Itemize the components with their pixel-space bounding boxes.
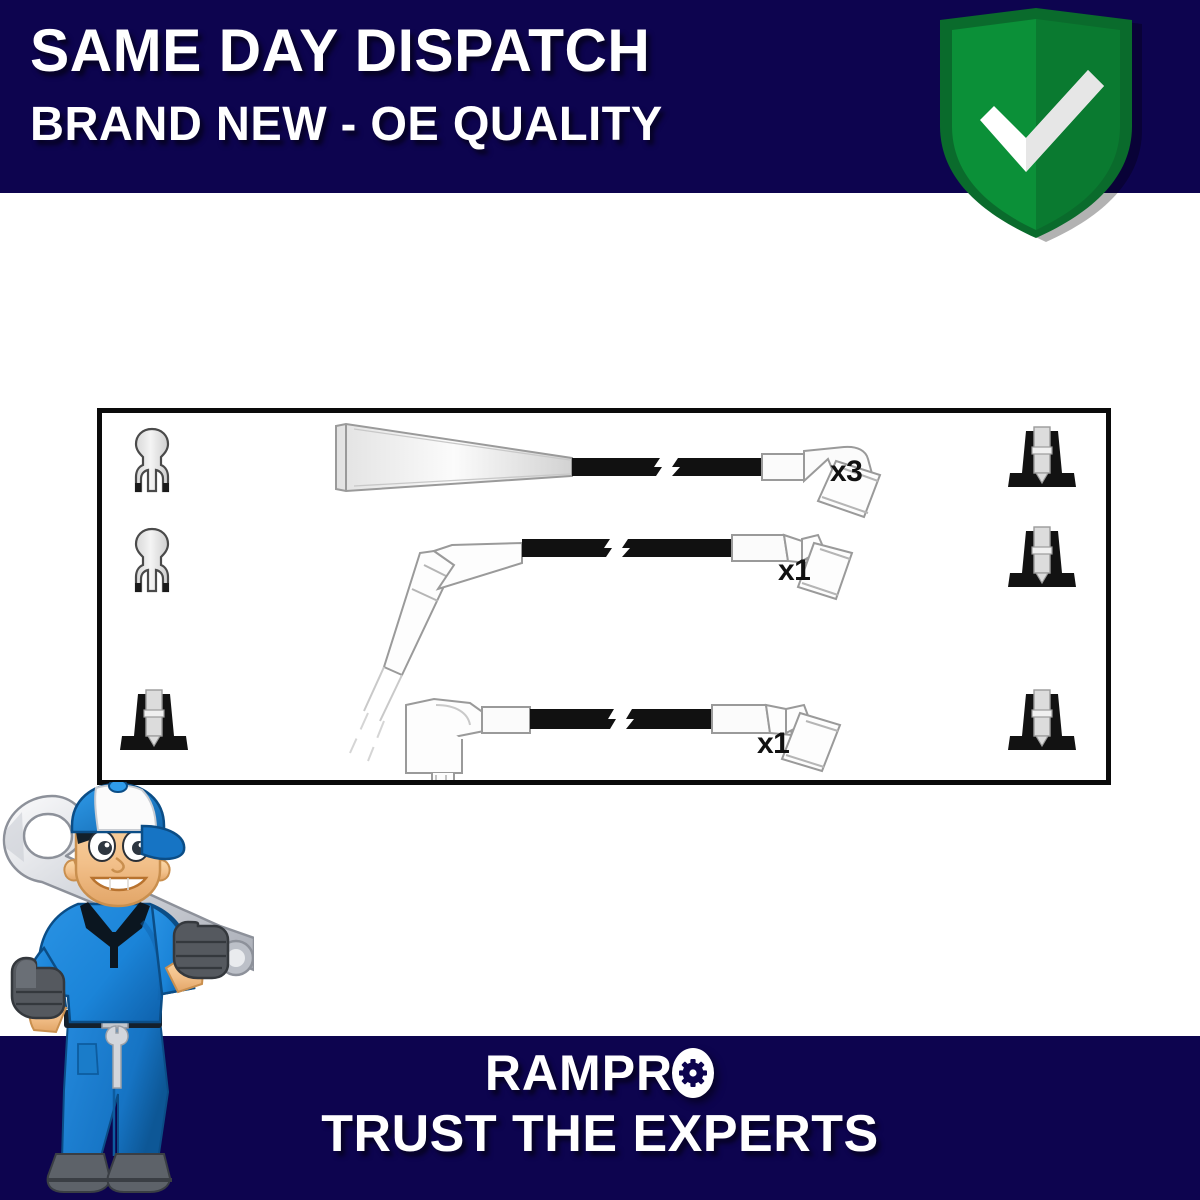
shield-check-icon (928, 8, 1150, 248)
quantity-label-lead-1: x3 (830, 455, 862, 489)
subline-brand-new-oe-quality: BRAND NEW - OE QUALITY (30, 96, 663, 154)
quantity-label-lead-2: x1 (778, 554, 810, 588)
mechanic-mascot (0, 782, 254, 1200)
ignition-lead-set-diagram: x3 x1 x1 (97, 408, 1111, 785)
quantity-label-lead-3: x1 (757, 727, 789, 761)
header-text-group: SAME DAY DISPATCH BRAND NEW - OE QUALITY (30, 16, 676, 154)
headline-same-day-dispatch: SAME DAY DISPATCH (30, 16, 663, 86)
